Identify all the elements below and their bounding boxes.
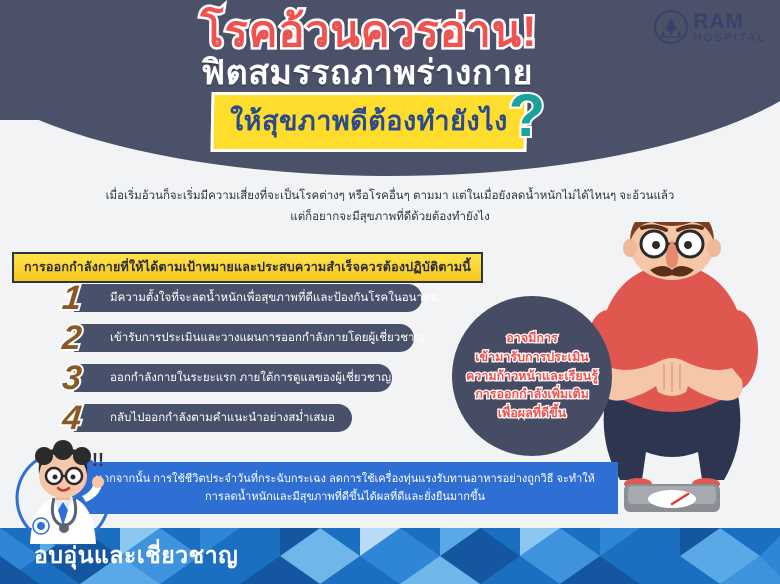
title-block: โรคอ้วนควรอ่าน! ฟิตสมรรถภาพร่างกาย ให้สุ… xyxy=(0,8,780,152)
list-item[interactable]: 4 กลับไปออกกำลังตามคำแนะนำอย่างสม่ำเสมอ xyxy=(52,402,452,438)
list-item[interactable]: 2 เข้ารับการประเมินและวางแผนการออกกำลังก… xyxy=(52,322,452,358)
step-label: เข้ารับการประเมินและวางแผนการออกกำลังกาย… xyxy=(74,324,414,352)
circle-line: เข้ามารับการประเมิน xyxy=(475,348,588,367)
intro-line-1: เมื่อเริ่มอ้วนก็จะเริ่มมีความเสี่ยงที่จะ… xyxy=(14,186,766,207)
circle-line: อาจมีการ xyxy=(506,329,557,348)
circle-callout: อาจมีการ เข้ามารับการประเมิน ความก้าวหน้… xyxy=(452,296,612,456)
blue-note-line-1: นอกจากนั้น การใช้ชีวิตประจำวันที่กระฉับก… xyxy=(95,470,595,488)
steps-list: 1 มีความตั้งใจที่จะลดน้ำหนักเพื่อสุขภาพท… xyxy=(52,282,452,442)
circle-line: การออกกำลังเพิ่มเติม xyxy=(475,385,589,404)
intro-paragraph: เมื่อเริ่มอ้วนก็จะเริ่มมีความเสี่ยงที่จะ… xyxy=(0,186,780,229)
blue-note-bar: นอกจากนั้น การใช้ชีวิตประจำวันที่กระฉับก… xyxy=(72,462,618,514)
headline-secondary: ฟิตสมรรถภาพร่างกาย xyxy=(0,53,780,94)
circle-line: ความก้าวหน้าและเรียนรู้ xyxy=(466,367,598,386)
list-item[interactable]: 3 ออกกำลังกายในระยะแรก ภายใต้การดูแลของผ… xyxy=(52,362,452,398)
step-label: มีความตั้งใจที่จะลดน้ำหนักเพื่อสุขภาพที่… xyxy=(74,284,422,312)
list-item[interactable]: 1 มีความตั้งใจที่จะลดน้ำหนักเพื่อสุขภาพท… xyxy=(52,282,452,318)
headline-primary: โรคอ้วนควรอ่าน! xyxy=(0,8,780,57)
step-number: 4 xyxy=(50,398,94,438)
step-number: 2 xyxy=(50,318,94,358)
step-label: ออกกำลังกายในระยะแรก ภายใต้การดูแลของผู้… xyxy=(74,364,392,392)
step-number: 1 xyxy=(50,278,94,318)
svg-text:!!: !! xyxy=(92,450,104,470)
blue-note-line-2: การลดน้ำหนักและมีสุขภาพที่ดีขึ้นได้ผลที่… xyxy=(205,488,485,506)
intro-line-2: แต่ก็อยากจะมีสุขภาพที่ดีด้วยต้องทำยังไง xyxy=(14,207,766,228)
step-label: กลับไปออกกำลังตามคำแนะนำอย่างสม่ำเสมอ xyxy=(74,404,352,432)
headline-highlight: ให้สุขภาพดีต้องทำยังไง xyxy=(210,92,527,152)
question-mark-icon: ? xyxy=(509,81,546,150)
circle-line: เพื่อผลที่ดีขึ้น xyxy=(498,404,566,423)
infographic-poster: RAM HOSPITAL โรคอ้วนควรอ่าน! ฟิตสมรรถภาพ… xyxy=(0,0,780,584)
headline-highlight-row: ให้สุขภาพดีต้องทำยังไง ? xyxy=(0,92,780,152)
doctor-illustration: !! xyxy=(8,440,118,550)
step-number: 3 xyxy=(50,358,94,398)
